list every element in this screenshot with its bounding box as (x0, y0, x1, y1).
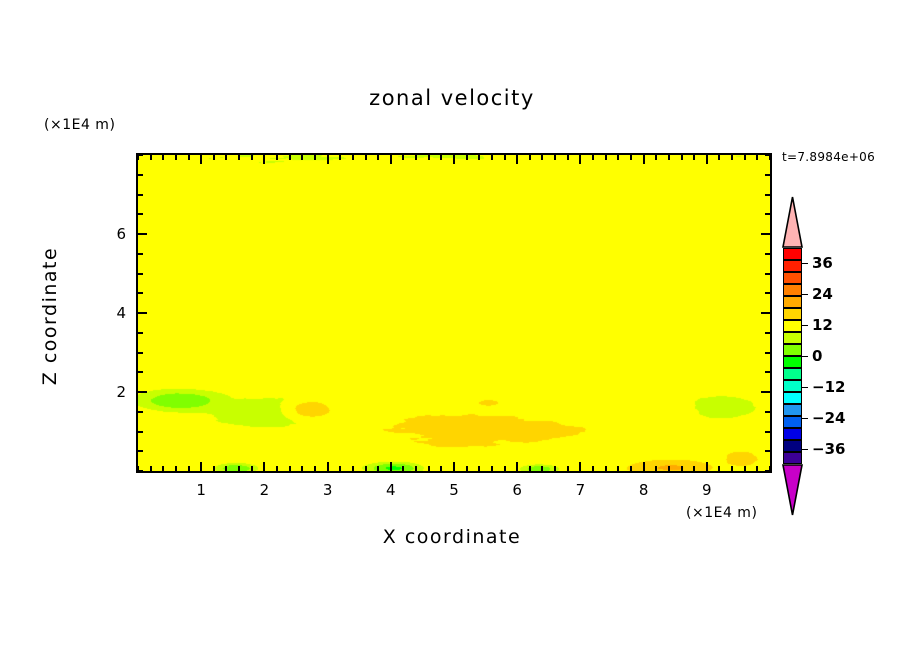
colorbar-tick (802, 356, 808, 357)
colorbar-tick (802, 387, 808, 388)
colorbar-band (783, 248, 802, 260)
y-axis-title: Z coordinate (39, 206, 61, 426)
colorbar-band (783, 368, 802, 380)
colorbar-tick-label: −24 (812, 409, 845, 427)
contour-field (138, 155, 770, 471)
colorbar-band (783, 416, 802, 428)
colorbar-tick-label: 0 (812, 347, 822, 365)
colorbar-tick-label: 24 (812, 285, 833, 303)
x-axis-tick-label: 3 (323, 481, 333, 499)
y-axis-unit-label: (×1E4 m) (44, 117, 115, 133)
colorbar-underflow-triangle (782, 464, 803, 516)
colorbar-band (783, 380, 802, 392)
colorbar-band (783, 272, 802, 284)
colorbar-band (783, 344, 802, 356)
x-axis-tick-label: 7 (576, 481, 586, 499)
x-axis-tick-label: 1 (196, 481, 206, 499)
colorbar-band (783, 332, 802, 344)
colorbar-band (783, 296, 802, 308)
x-axis-tick-label: 8 (639, 481, 649, 499)
colorbar-tick (802, 294, 808, 295)
colorbar-tick-label: 12 (812, 316, 833, 334)
x-axis-tick-label: 5 (449, 481, 459, 499)
colorbar-band (783, 308, 802, 320)
colorbar-underflow-arrow (782, 464, 803, 516)
colorbar-overflow-triangle (782, 196, 803, 248)
colorbar-band (783, 404, 802, 416)
x-axis-unit-label: (×1E4 m) (686, 505, 757, 521)
colorbar-tick (802, 449, 808, 450)
x-axis-tick-label: 6 (512, 481, 522, 499)
colorbar-band (783, 452, 802, 464)
x-axis-tick-label: 9 (702, 481, 712, 499)
y-axis-tick-label: 4 (104, 304, 126, 322)
colorbar-band (783, 440, 802, 452)
colorbar-band (783, 428, 802, 440)
contour-plot-area (136, 153, 772, 473)
y-axis-tick-label: 2 (104, 383, 126, 401)
page-title: zonal velocity (0, 86, 904, 110)
colorbar-band (783, 284, 802, 296)
colorbar-tick-label: −12 (812, 378, 845, 396)
colorbar-band (783, 356, 802, 368)
colorbar-tick (802, 418, 808, 419)
x-axis-tick-label: 2 (260, 481, 270, 499)
colorbar-tick-label: 36 (812, 254, 833, 272)
colorbar-band (783, 392, 802, 404)
colorbar-overflow-arrow (782, 196, 803, 248)
timestamp-annotation: t=7.8984e+06 (782, 150, 875, 164)
x-axis-title: X coordinate (0, 526, 904, 548)
colorbar-tick-label: −36 (812, 440, 845, 458)
colorbar: 3624120−12−24−36 (783, 248, 802, 464)
colorbar-tick (802, 325, 808, 326)
colorbar-tick (802, 263, 808, 264)
colorbar-band (783, 260, 802, 272)
colorbar-band (783, 320, 802, 332)
y-axis-tick-label: 6 (104, 225, 126, 243)
x-axis-tick-label: 4 (386, 481, 396, 499)
